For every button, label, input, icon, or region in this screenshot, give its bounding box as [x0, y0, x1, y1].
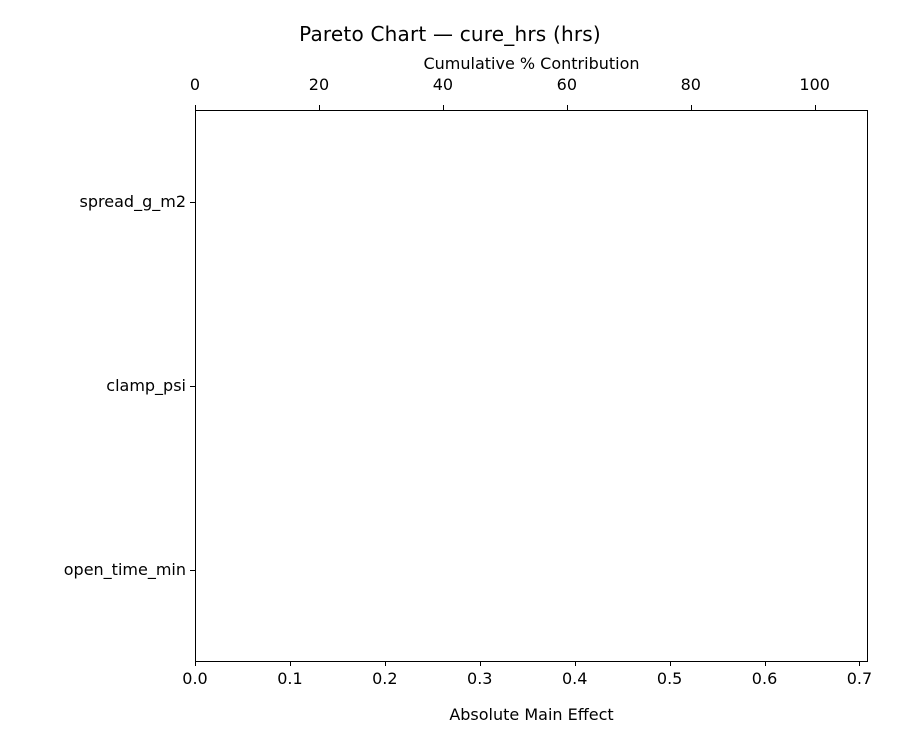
x-tick-label-0.3: 0.3 — [467, 670, 492, 688]
y-tick-label-open_time_min: open_time_min — [64, 561, 186, 579]
x-tick-mark-0.1 — [290, 661, 291, 666]
x-tick-mark-0.7 — [859, 661, 860, 666]
axes-frame — [195, 110, 868, 662]
x-tick-label-0.1: 0.1 — [277, 670, 302, 688]
x-axis-title: Absolute Main Effect — [195, 705, 868, 724]
x-tick-mark-0.4 — [575, 661, 576, 666]
top-tick-label-60: 60 — [557, 76, 577, 94]
x-tick-label-0.6: 0.6 — [752, 670, 777, 688]
top-tick-label-0: 0 — [190, 76, 200, 94]
top-tick-label-80: 80 — [681, 76, 701, 94]
x-tick-label-0.2: 0.2 — [372, 670, 397, 688]
x-tick-label-0.4: 0.4 — [562, 670, 587, 688]
top-tick-mark-0 — [195, 105, 196, 110]
x-tick-mark-0.2 — [385, 661, 386, 666]
top-tick-mark-20 — [319, 105, 320, 110]
y-tick-mark-spread_g_m2 — [190, 202, 195, 203]
y-tick-mark-clamp_psi — [190, 386, 195, 387]
x-tick-label-0.0: 0.0 — [182, 670, 207, 688]
top-tick-mark-60 — [567, 105, 568, 110]
x-tick-label-0.7: 0.7 — [847, 670, 872, 688]
y-tick-mark-open_time_min — [190, 570, 195, 571]
top-tick-mark-100 — [815, 105, 816, 110]
top-tick-label-100: 100 — [799, 76, 830, 94]
top-tick-mark-40 — [443, 105, 444, 110]
x-tick-mark-0.6 — [765, 661, 766, 666]
x-tick-mark-0.3 — [480, 661, 481, 666]
x-tick-mark-0.0 — [195, 661, 196, 666]
pareto-chart-figure: Pareto Chart — cure_hrs (hrs) Cumulative… — [0, 0, 900, 750]
top-tick-mark-80 — [691, 105, 692, 110]
chart-title: Pareto Chart — cure_hrs (hrs) — [0, 22, 900, 46]
top-tick-label-40: 40 — [433, 76, 453, 94]
y-tick-label-clamp_psi: clamp_psi — [106, 377, 186, 395]
top-tick-label-20: 20 — [309, 76, 329, 94]
x-tick-mark-0.5 — [670, 661, 671, 666]
x-tick-label-0.5: 0.5 — [657, 670, 682, 688]
top-axis-title: Cumulative % Contribution — [195, 54, 868, 73]
y-tick-label-spread_g_m2: spread_g_m2 — [80, 193, 186, 211]
